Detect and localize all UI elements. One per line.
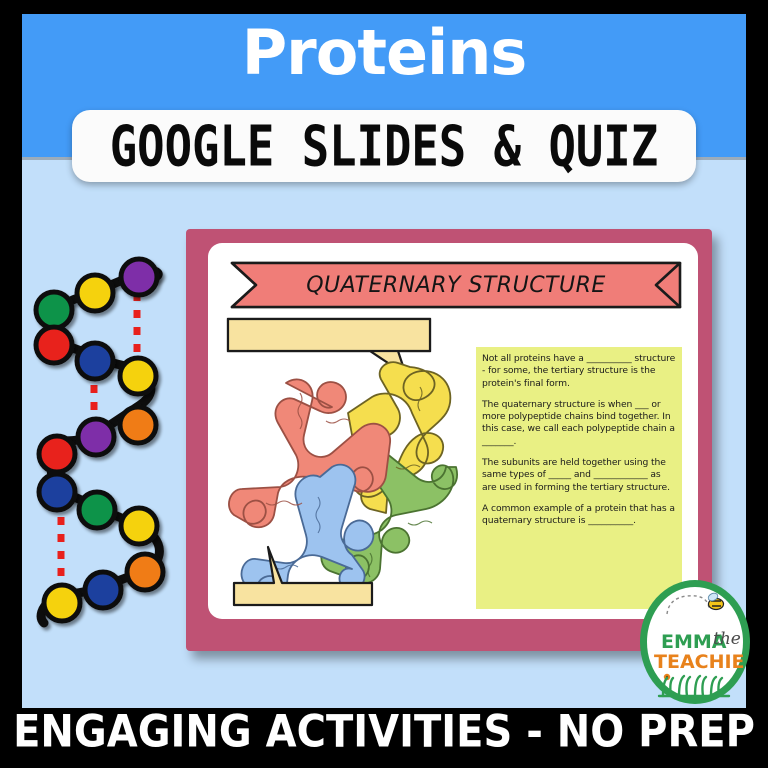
slide-inner: QUATERNARY STRUCTURE bbox=[208, 243, 698, 619]
info-paragraph: The quaternary structure is when ___ or … bbox=[482, 399, 676, 448]
info-paragraph: Not all proteins have a __________ struc… bbox=[482, 353, 676, 390]
quaternary-structure-illustration bbox=[220, 317, 464, 607]
product-cover-canvas: Proteins GOOGLE SLIDES & QUIZ bbox=[0, 0, 768, 768]
info-paragraph: A common example of a protein that has a… bbox=[482, 503, 676, 528]
slide-preview-card[interactable]: QUATERNARY STRUCTURE bbox=[186, 229, 712, 651]
footer-text: ENGAGING ACTIVITIES - NO PREP bbox=[13, 706, 755, 758]
polypeptide-chain-blue bbox=[241, 465, 373, 602]
amino-acid-chain-illustration bbox=[24, 245, 194, 635]
ribbon-title-text: QUATERNARY STRUCTURE bbox=[230, 261, 682, 309]
amino-acid-beads bbox=[36, 259, 163, 621]
brand-logo[interactable]: EMMA the TEACHIE bbox=[637, 578, 754, 706]
info-paragraph: The subunits are held together using the… bbox=[482, 457, 676, 494]
slide-text-box: Not all proteins have a __________ struc… bbox=[476, 347, 682, 609]
subtitle-pill: GOOGLE SLIDES & QUIZ bbox=[72, 110, 696, 182]
slide-title-ribbon: QUATERNARY STRUCTURE bbox=[230, 261, 682, 309]
logo-line3: TEACHIE bbox=[654, 651, 745, 673]
subtitle-text: GOOGLE SLIDES & QUIZ bbox=[110, 113, 658, 179]
logo-line2: the bbox=[713, 629, 741, 649]
page-title: Proteins bbox=[22, 22, 746, 84]
footer-banner: ENGAGING ACTIVITIES - NO PREP bbox=[22, 708, 746, 756]
